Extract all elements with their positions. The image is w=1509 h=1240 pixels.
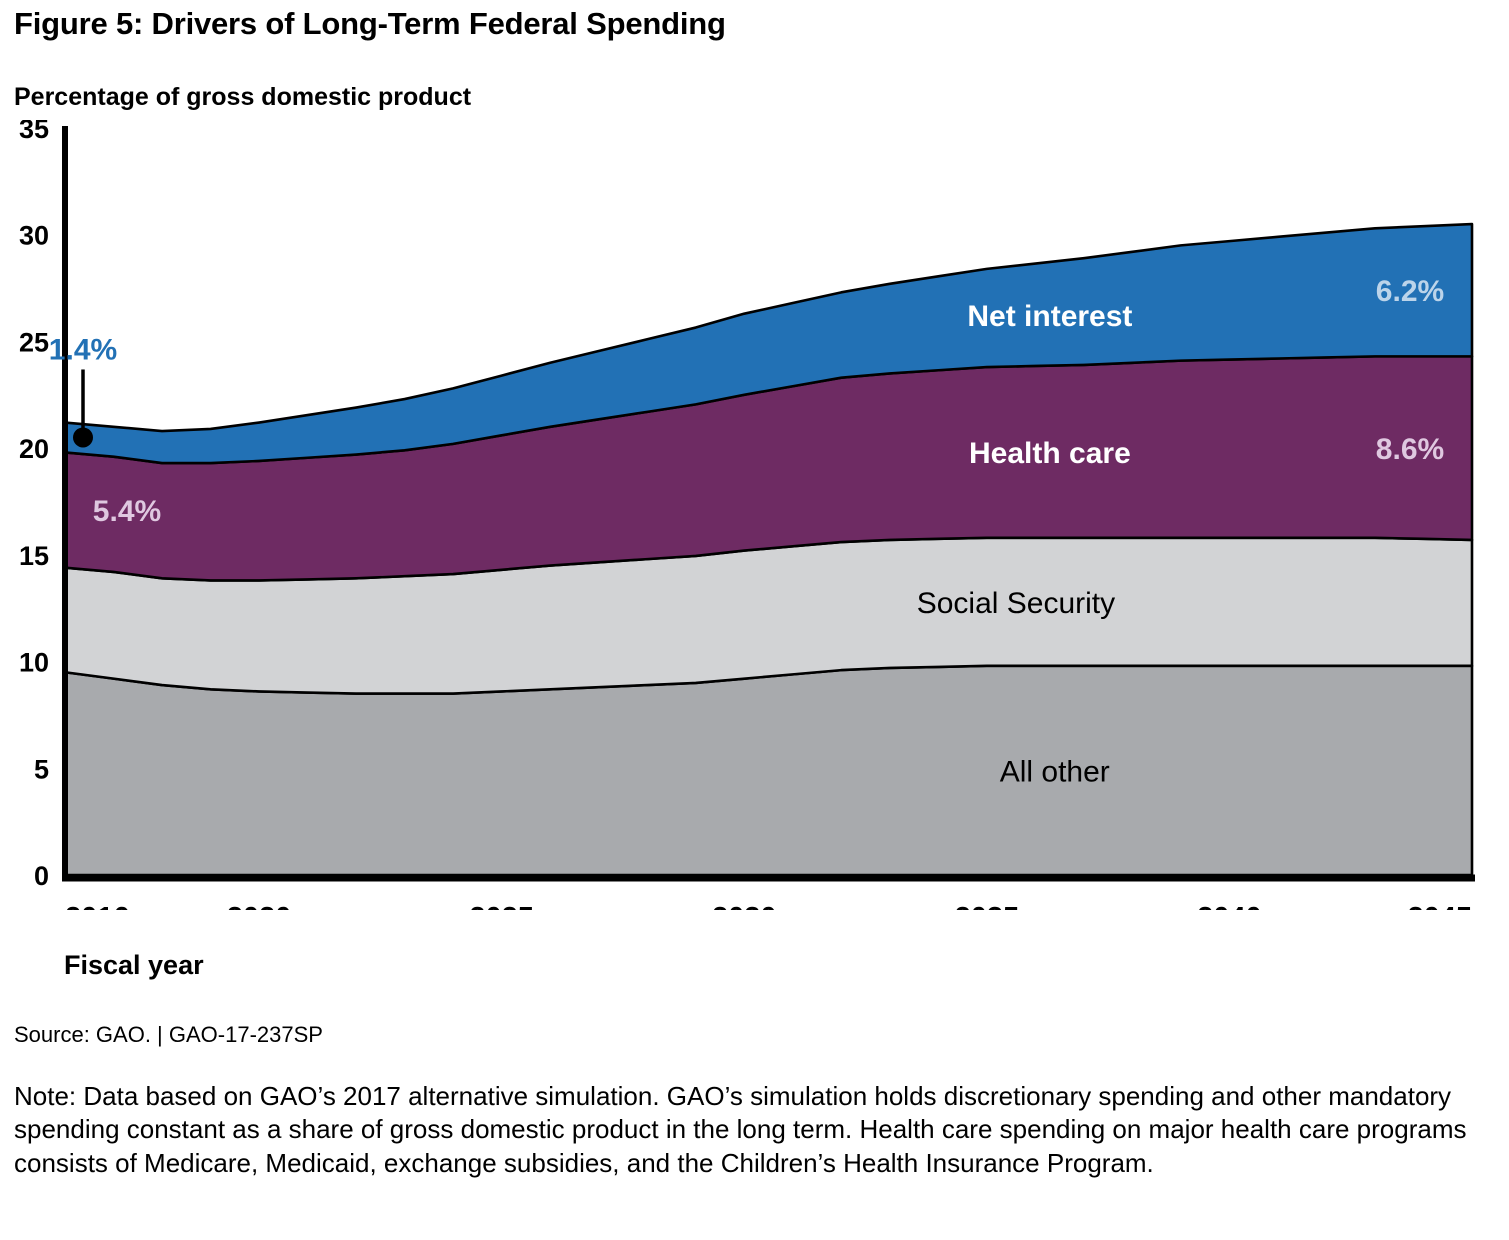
source-line: Source: GAO. | GAO-17-237SP xyxy=(14,1022,323,1048)
x-axis-tick-label: 2040 xyxy=(1197,902,1262,910)
x-axis-tick-label: 2030 xyxy=(712,902,777,910)
y-axis-tick-label: 5 xyxy=(34,754,49,784)
figure-page: Figure 5: Drivers of Long-Term Federal S… xyxy=(0,0,1509,1240)
annotation-dot-marker xyxy=(73,427,93,447)
x-axis-tick-label: 2035 xyxy=(955,902,1020,910)
annotation-health-care-2016: 5.4% xyxy=(93,495,161,528)
annotation-net-interest-2016: 1.4% xyxy=(49,333,117,366)
area-band-all-other xyxy=(65,666,1472,875)
y-axis-tick-label: 0 xyxy=(34,861,49,891)
annotation-health-care-2045: 8.6% xyxy=(1376,433,1444,466)
x-axis-tick-label: 2045 xyxy=(1407,902,1472,910)
y-axis-tick-label: 10 xyxy=(19,648,49,678)
y-axis-tick-label: 25 xyxy=(19,327,49,357)
y-axis-ticks: 05101520253035 xyxy=(19,120,49,891)
y-axis-tick-label: 30 xyxy=(19,221,49,251)
y-axis-tick-label: 20 xyxy=(19,434,49,464)
band-label-all-other: All other xyxy=(1000,755,1110,788)
annotation-net-interest-2045: 6.2% xyxy=(1376,275,1444,308)
area-bands xyxy=(65,224,1472,875)
page-title: Figure 5: Drivers of Long-Term Federal S… xyxy=(14,6,726,42)
x-axis-ticks: 2016202020252030203520402045 xyxy=(65,902,1472,910)
chart-area: 05101520253035 2016202020252030203520402… xyxy=(0,120,1509,910)
y-axis-tick-label: 35 xyxy=(19,120,49,144)
stacked-area-chart: 05101520253035 2016202020252030203520402… xyxy=(0,120,1509,910)
note-text: Note: Data based on GAO’s 2017 alternati… xyxy=(14,1080,1504,1180)
band-label-social-security: Social Security xyxy=(917,587,1115,620)
x-axis-title: Fiscal year xyxy=(64,950,204,981)
x-axis-tick-label: 2020 xyxy=(227,902,292,910)
band-label-net-interest: Net interest xyxy=(967,300,1132,333)
x-axis-tick-label: 2025 xyxy=(469,902,534,910)
y-axis-title: Percentage of gross domestic product xyxy=(14,83,471,112)
band-label-health-care: Health care xyxy=(969,437,1131,470)
x-axis-tick-label: 2016 xyxy=(65,902,130,910)
y-axis-tick-label: 15 xyxy=(19,541,49,571)
